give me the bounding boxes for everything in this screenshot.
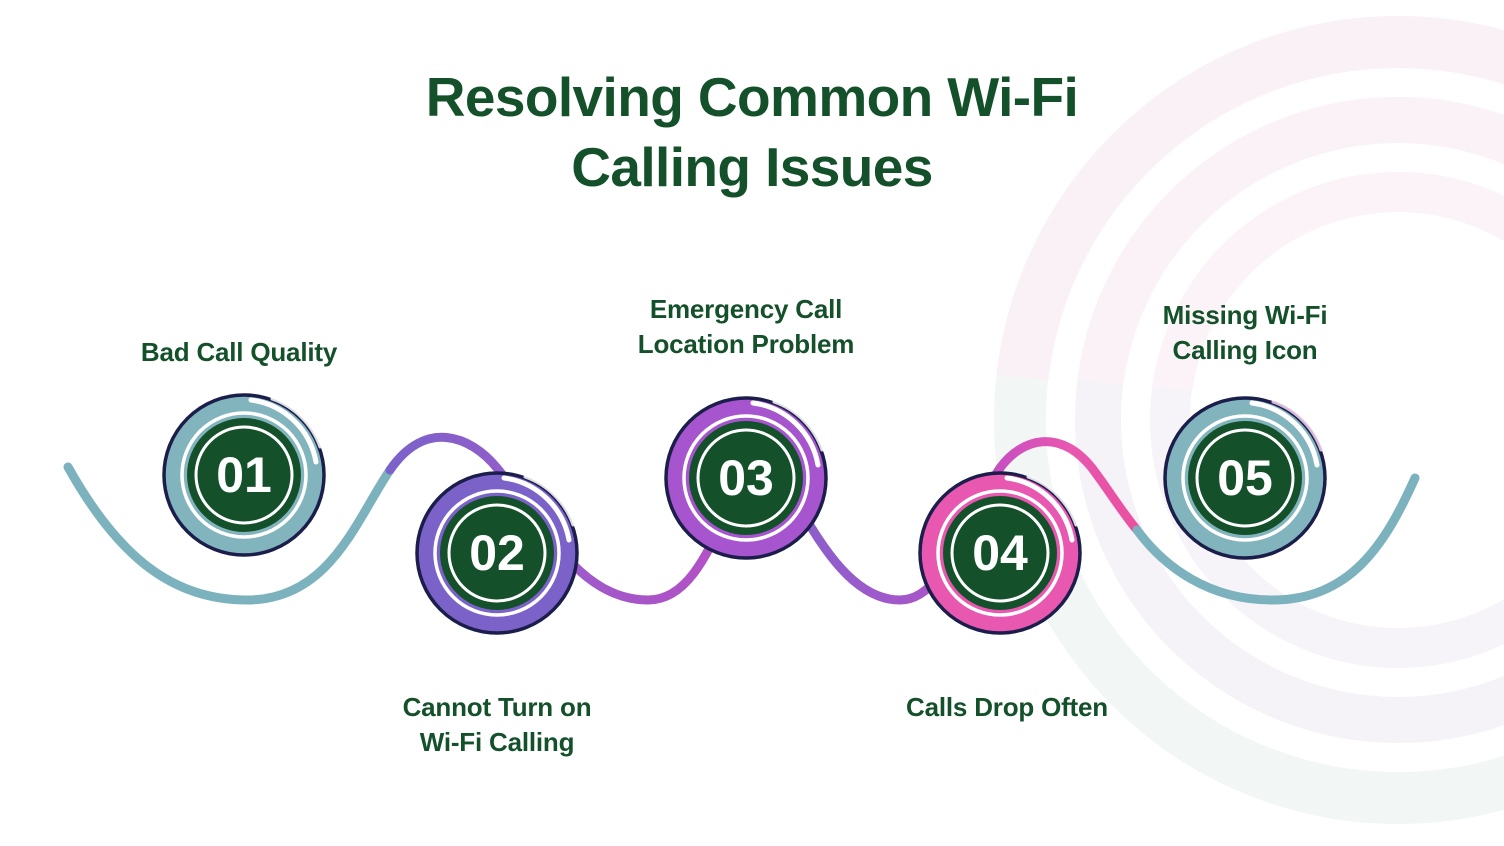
step-node-04[interactable]: 04 <box>920 473 1080 633</box>
step-label-05: Missing Wi-Fi Calling Icon <box>1095 298 1395 367</box>
node-number-05: 05 <box>1217 450 1273 506</box>
node-number-04: 04 <box>972 525 1028 581</box>
step-label-04: Calls Drop Often <box>857 690 1157 725</box>
node-number-02: 02 <box>469 525 525 581</box>
step-node-01[interactable]: 01 <box>164 395 324 555</box>
step-label-02: Cannot Turn on Wi-Fi Calling <box>347 690 647 759</box>
node-number-01: 01 <box>216 447 272 503</box>
step-node-03[interactable]: 03 <box>666 398 826 558</box>
node-number-03: 03 <box>718 450 774 506</box>
step-label-03: Emergency Call Location Problem <box>596 292 896 361</box>
infographic-canvas: Resolving Common Wi-Fi Calling Issues <box>0 0 1504 846</box>
step-node-05[interactable]: 05 <box>1165 398 1325 558</box>
step-node-02[interactable]: 02 <box>417 473 577 633</box>
timeline-flow: 01 02 03 <box>0 0 1504 846</box>
step-label-01: Bad Call Quality <box>89 335 389 370</box>
